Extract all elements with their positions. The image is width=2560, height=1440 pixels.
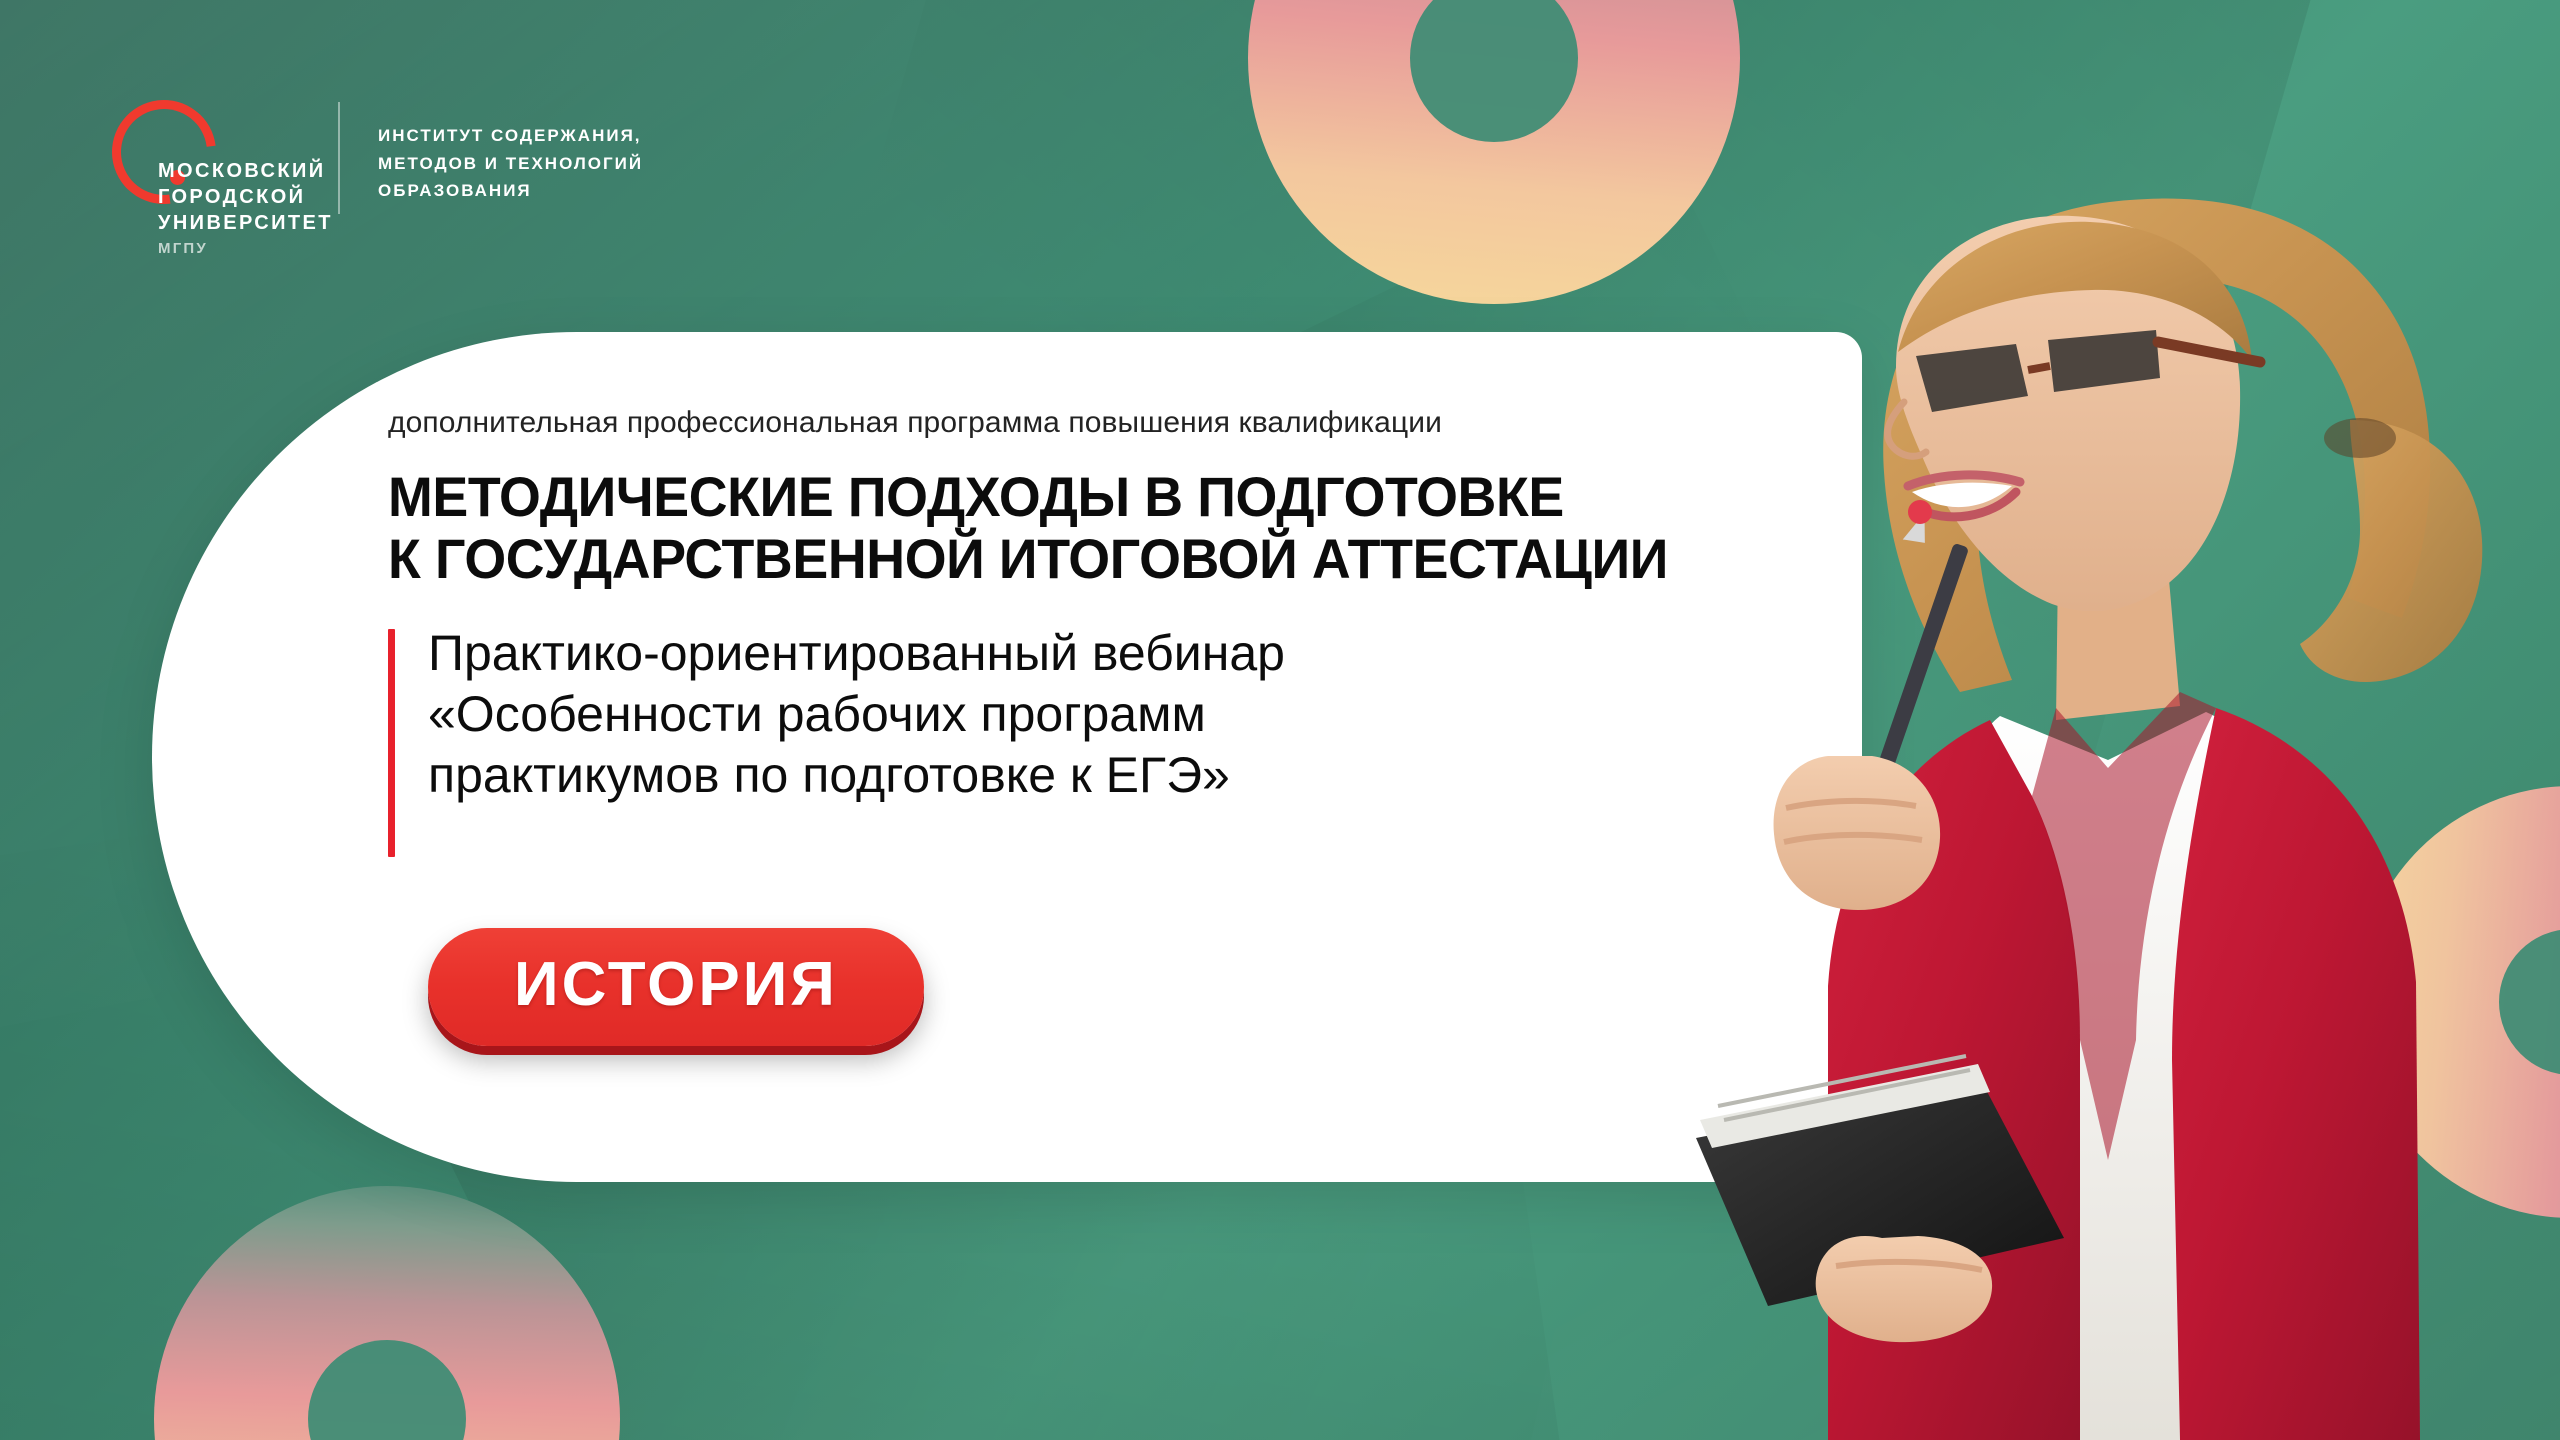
logo-abbreviation: МГПУ (158, 239, 333, 259)
logo-line-2: ГОРОДСКОЙ (158, 186, 305, 208)
webinar-subtitle: Практико-ориентированный вебинар «Особен… (428, 623, 1808, 806)
logo-line-3: УНИВЕРСИТЕТ (158, 212, 333, 234)
red-accent-bar (388, 629, 395, 857)
card-content: дополнительная профессиональная программ… (388, 406, 1808, 806)
logo-divider (338, 102, 340, 214)
institute-name: ИНСТИТУТ СОДЕРЖАНИЯ, МЕТОДОВ И ТЕХНОЛОГИ… (378, 122, 643, 205)
history-subject-button[interactable]: ИСТОРИЯ (428, 928, 924, 1046)
logo-university-name: МОСКОВСКИЙ ГОРОДСКОЙ УНИВЕРСИТЕТ МГПУ (158, 158, 333, 259)
mgpu-logo[interactable]: МОСКОВСКИЙ ГОРОДСКОЙ УНИВЕРСИТЕТ МГПУ ИН… (110, 96, 643, 222)
history-subject-label: ИСТОРИЯ (514, 954, 838, 1016)
logo-mark: МОСКОВСКИЙ ГОРОДСКОЙ УНИВЕРСИТЕТ МГПУ (110, 96, 308, 222)
program-eyebrow: дополнительная профессиональная программ… (388, 406, 1808, 440)
cta-container: ИСТОРИЯ (428, 928, 924, 1046)
page-title: МЕТОДИЧЕСКИЕ ПОДХОДЫ В ПОДГОТОВКЕ К ГОСУ… (388, 466, 1751, 589)
subtitle-block: Практико-ориентированный вебинар «Особен… (388, 623, 1808, 806)
logo-line-1: МОСКОВСКИЙ (158, 160, 326, 182)
poster-banner: МОСКОВСКИЙ ГОРОДСКОЙ УНИВЕРСИТЕТ МГПУ ИН… (0, 0, 2560, 1440)
